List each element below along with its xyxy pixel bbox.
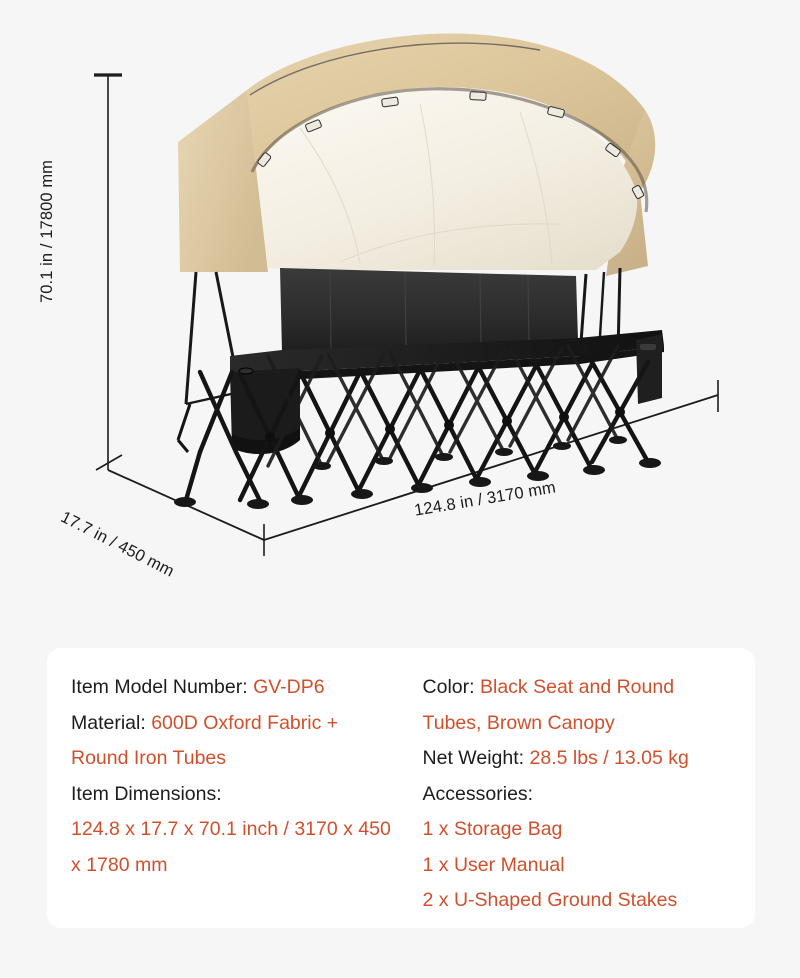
spec-accessories-label: Accessories: xyxy=(423,783,534,805)
specifications-card: Item Model Number: GV-DP6 Material: 600D… xyxy=(47,648,755,928)
spec-item-model-number-value: GV-DP6 xyxy=(253,676,325,698)
spec-accessory-storage-bag: 1 x Storage Bag xyxy=(423,812,731,848)
spec-column-left: Item Model Number: GV-DP6 Material: 600D… xyxy=(71,670,401,883)
ground-stake xyxy=(178,404,190,452)
spec-item-dimensions-value: 124.8 x 17.7 x 70.1 inch / 3170 x 450 x … xyxy=(71,812,393,883)
spec-accessory-ground-stakes: 2 x U-Shaped Ground Stakes xyxy=(423,883,731,919)
canopy xyxy=(178,33,655,276)
spec-net-weight: Net Weight: 28.5 lbs / 13.05 kg xyxy=(423,741,731,777)
product-spec-page: 70.1 in / 17800 mm 17.7 in / 450 mm 124.… xyxy=(0,0,800,978)
cooler-bag xyxy=(230,368,300,454)
spec-item-dimensions: Item Dimensions: xyxy=(71,777,393,813)
height-dimension-label: 70.1 in / 17800 mm xyxy=(38,160,57,303)
spec-item-model-number-label: Item Model Number: xyxy=(71,676,248,698)
spec-net-weight-value: 28.5 lbs / 13.05 kg xyxy=(530,747,689,769)
spec-column-right: Color: Black Seat and Round Tubes, Brown… xyxy=(401,670,731,919)
end-pocket xyxy=(636,334,662,404)
spec-accessories: Accessories: xyxy=(423,777,731,813)
pocket-logo xyxy=(640,344,656,350)
spec-color: Color: Black Seat and Round Tubes, Brown… xyxy=(423,670,731,741)
spec-accessory-user-manual: 1 x User Manual xyxy=(423,848,731,884)
product-image-panel: 70.1 in / 17800 mm 17.7 in / 450 mm 124.… xyxy=(0,0,800,630)
spec-color-label: Color: xyxy=(423,676,475,698)
spec-material: Material: 600D Oxford Fabric + Round Iro… xyxy=(71,706,393,777)
spec-item-dimensions-label: Item Dimensions: xyxy=(71,783,222,805)
spec-item-model-number: Item Model Number: GV-DP6 xyxy=(71,670,393,706)
height-bottom-tick xyxy=(96,455,122,470)
spec-net-weight-label: Net Weight: xyxy=(423,747,525,769)
spec-material-label: Material: xyxy=(71,712,146,734)
bench-seat xyxy=(230,268,664,380)
